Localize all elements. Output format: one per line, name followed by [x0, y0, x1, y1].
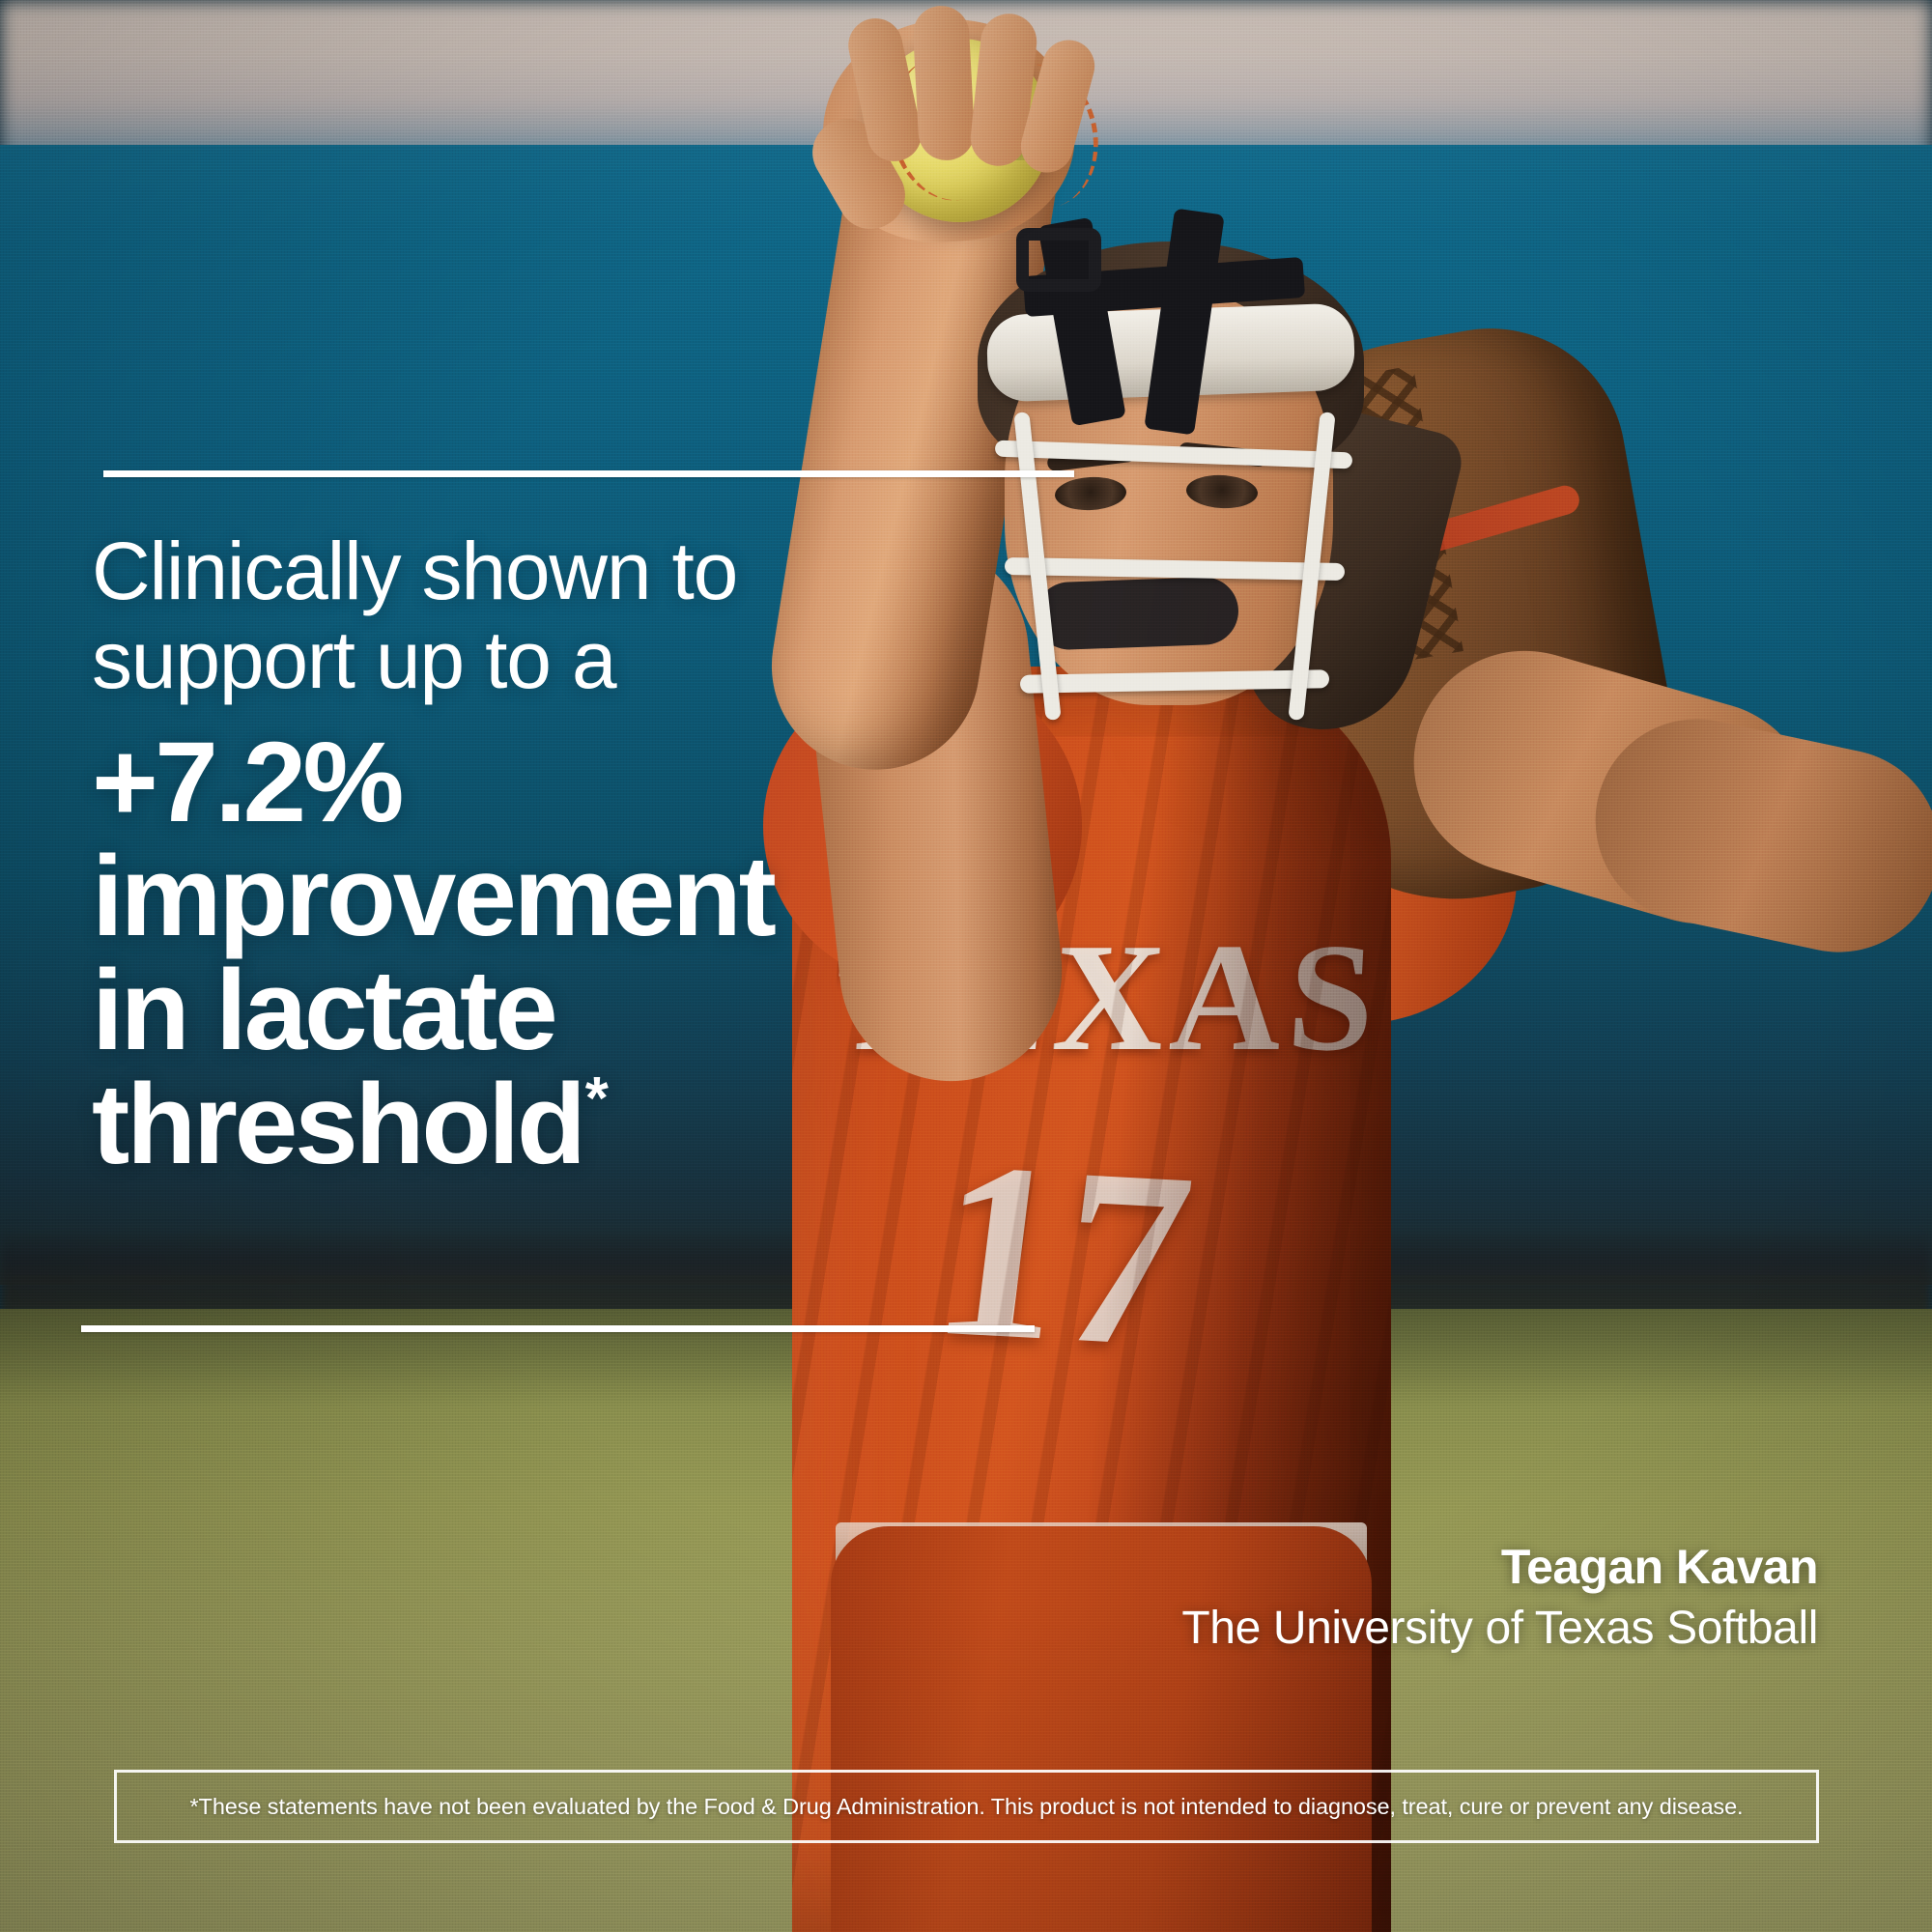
- headline-line-5: threshold: [92, 1061, 583, 1188]
- headline-line-3: improvement: [92, 833, 774, 960]
- divider-line-bottom: [81, 1325, 1035, 1332]
- headline-claim: +7.2% improvement in lactate threshold*: [92, 725, 1058, 1181]
- headline-subtext: Clinically shown to support up to a: [92, 527, 1058, 704]
- headline-line-2: support up to a: [92, 616, 1058, 705]
- athlete-name: Teagan Kavan: [1181, 1538, 1818, 1596]
- stat-value: +7.2%: [92, 725, 1058, 839]
- advertisement-creative: TEXAS 17: [0, 0, 1932, 1932]
- divider-line-top: [103, 470, 1074, 477]
- cage-bar-horizontal-3: [1020, 669, 1329, 694]
- athlete-attribution: Teagan Kavan The University of Texas Sof…: [1181, 1538, 1818, 1658]
- helmet-buckle: [1016, 228, 1101, 292]
- headline-block: Clinically shown to support up to a +7.2…: [92, 527, 1058, 1181]
- athlete-team: The University of Texas Softball: [1181, 1600, 1818, 1658]
- cage-bar-horizontal-1: [995, 440, 1352, 469]
- headline-line-4: in lactate: [92, 947, 555, 1074]
- finger-2: [912, 5, 976, 162]
- headline-line-1: Clinically shown to: [92, 527, 1058, 616]
- fda-disclaimer-text: *These statements have not been evaluate…: [190, 1794, 1744, 1820]
- fda-disclaimer-box: *These statements have not been evaluate…: [114, 1770, 1819, 1843]
- footnote-asterisk-icon: *: [585, 1065, 609, 1132]
